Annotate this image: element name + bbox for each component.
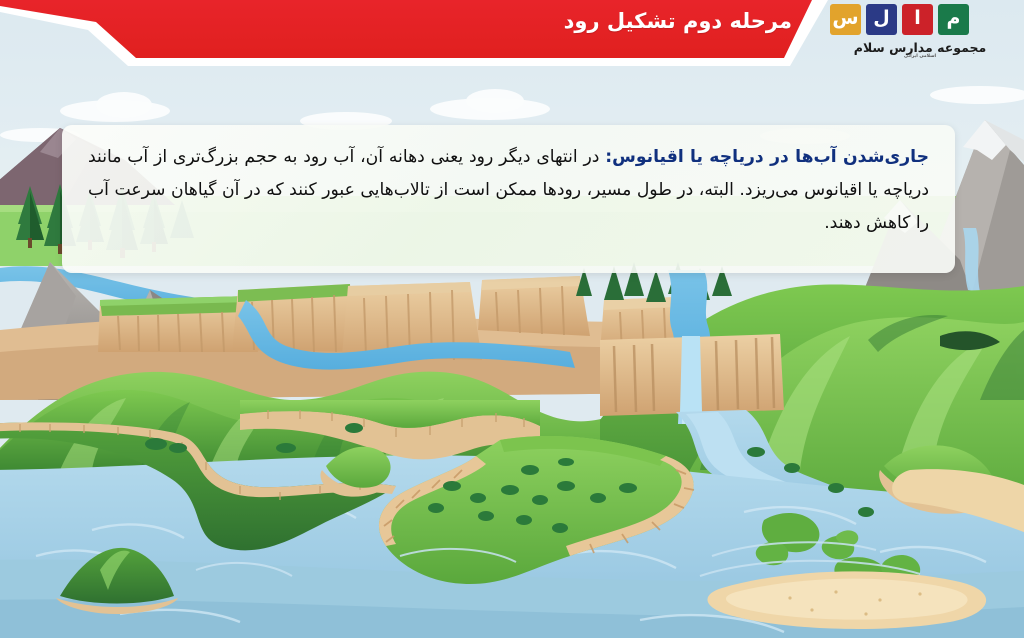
salam-schools-logo[interactable]: م ا ل س مجموعه مدارس سلام اسلامی ایرانی: [830, 4, 1010, 66]
description-text: جاری‌شدن آب‌ها در دریاچه یا اقیانوس: در …: [88, 141, 929, 240]
logo-subtitle: مجموعه مدارس سلام اسلامی ایرانی: [830, 40, 1010, 59]
header-bar: مرحله دوم تشکیل رود م ا ل س مجموعه مدارس…: [0, 0, 1024, 72]
logo-square-meem: م: [938, 4, 969, 35]
description-card: جاری‌شدن آب‌ها در دریاچه یا اقیانوس: در …: [62, 125, 955, 273]
landscape-illustration: [0, 0, 1024, 638]
logo-square-alef: ا: [902, 4, 933, 35]
page-title: مرحله دوم تشکیل رود: [372, 9, 792, 33]
logo-square-seen: س: [830, 4, 861, 35]
logo-square-lam: ل: [866, 4, 897, 35]
logo-squares: م ا ل س: [830, 4, 1010, 35]
description-lead: جاری‌شدن آب‌ها در دریاچه یا اقیانوس:: [605, 147, 929, 167]
slide-canvas: جاری‌شدن آب‌ها در دریاچه یا اقیانوس: در …: [0, 0, 1024, 638]
